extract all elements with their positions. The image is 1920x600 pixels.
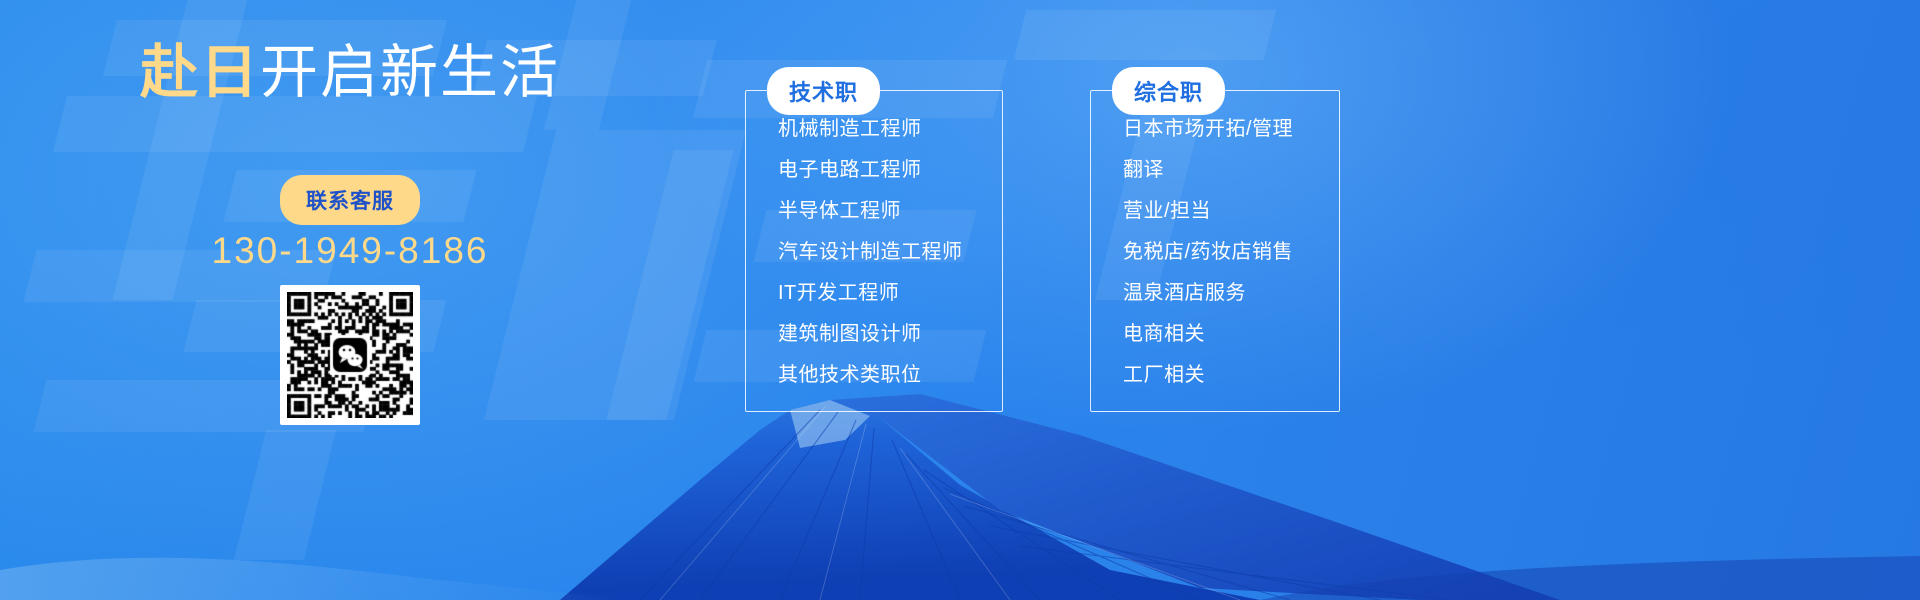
list-item[interactable]: 汽车设计制造工程师: [746, 242, 1002, 262]
list-item[interactable]: 温泉酒店服务: [1091, 283, 1339, 303]
page-title: 赴日开启新生活: [0, 44, 700, 102]
headline-accent: 赴日: [140, 40, 260, 105]
job-column-tech: 技术职 机械制造工程师 电子电路工程师 半导体工程师 汽车设计制造工程师 IT开…: [745, 90, 1003, 412]
job-column-badge-tech: 技术职: [767, 67, 880, 115]
list-item[interactable]: 营业/担当: [1091, 201, 1339, 221]
list-item[interactable]: 电子电路工程师: [746, 160, 1002, 180]
list-item[interactable]: 日本市场开拓/管理: [1091, 119, 1339, 139]
list-item[interactable]: 建筑制图设计师: [746, 324, 1002, 344]
list-item[interactable]: 翻译: [1091, 160, 1339, 180]
list-item[interactable]: 电商相关: [1091, 324, 1339, 344]
job-list-tech: 机械制造工程师 电子电路工程师 半导体工程师 汽车设计制造工程师 IT开发工程师…: [745, 90, 1003, 412]
list-item[interactable]: IT开发工程师: [746, 283, 1002, 303]
list-item[interactable]: 机械制造工程师: [746, 119, 1002, 139]
list-item[interactable]: 其他技术类职位: [746, 365, 1002, 385]
job-column-general: 综合职 日本市场开拓/管理 翻译 营业/担当 免税店/药妆店销售 温泉酒店服务 …: [1090, 90, 1340, 412]
promo-banner: 赴日开启新生活 联系客服 130-1949-8186 技术职 机械制造工程师 电…: [0, 0, 1920, 600]
list-item[interactable]: 免税店/药妆店销售: [1091, 242, 1339, 262]
contact-support-button[interactable]: 联系客服: [280, 175, 420, 225]
list-item[interactable]: 工厂相关: [1091, 365, 1339, 385]
qr-canvas: [287, 292, 413, 418]
phone-number: 130-1949-8186: [0, 230, 700, 272]
left-content-block: 赴日开启新生活 联系客服 130-1949-8186: [0, 0, 700, 600]
headline-plain: 开启新生活: [260, 40, 560, 105]
wechat-qr-code[interactable]: [280, 285, 420, 425]
job-column-badge-general: 综合职: [1112, 67, 1225, 115]
job-list-general: 日本市场开拓/管理 翻译 营业/担当 免税店/药妆店销售 温泉酒店服务 电商相关…: [1090, 90, 1340, 412]
list-item[interactable]: 半导体工程师: [746, 201, 1002, 221]
